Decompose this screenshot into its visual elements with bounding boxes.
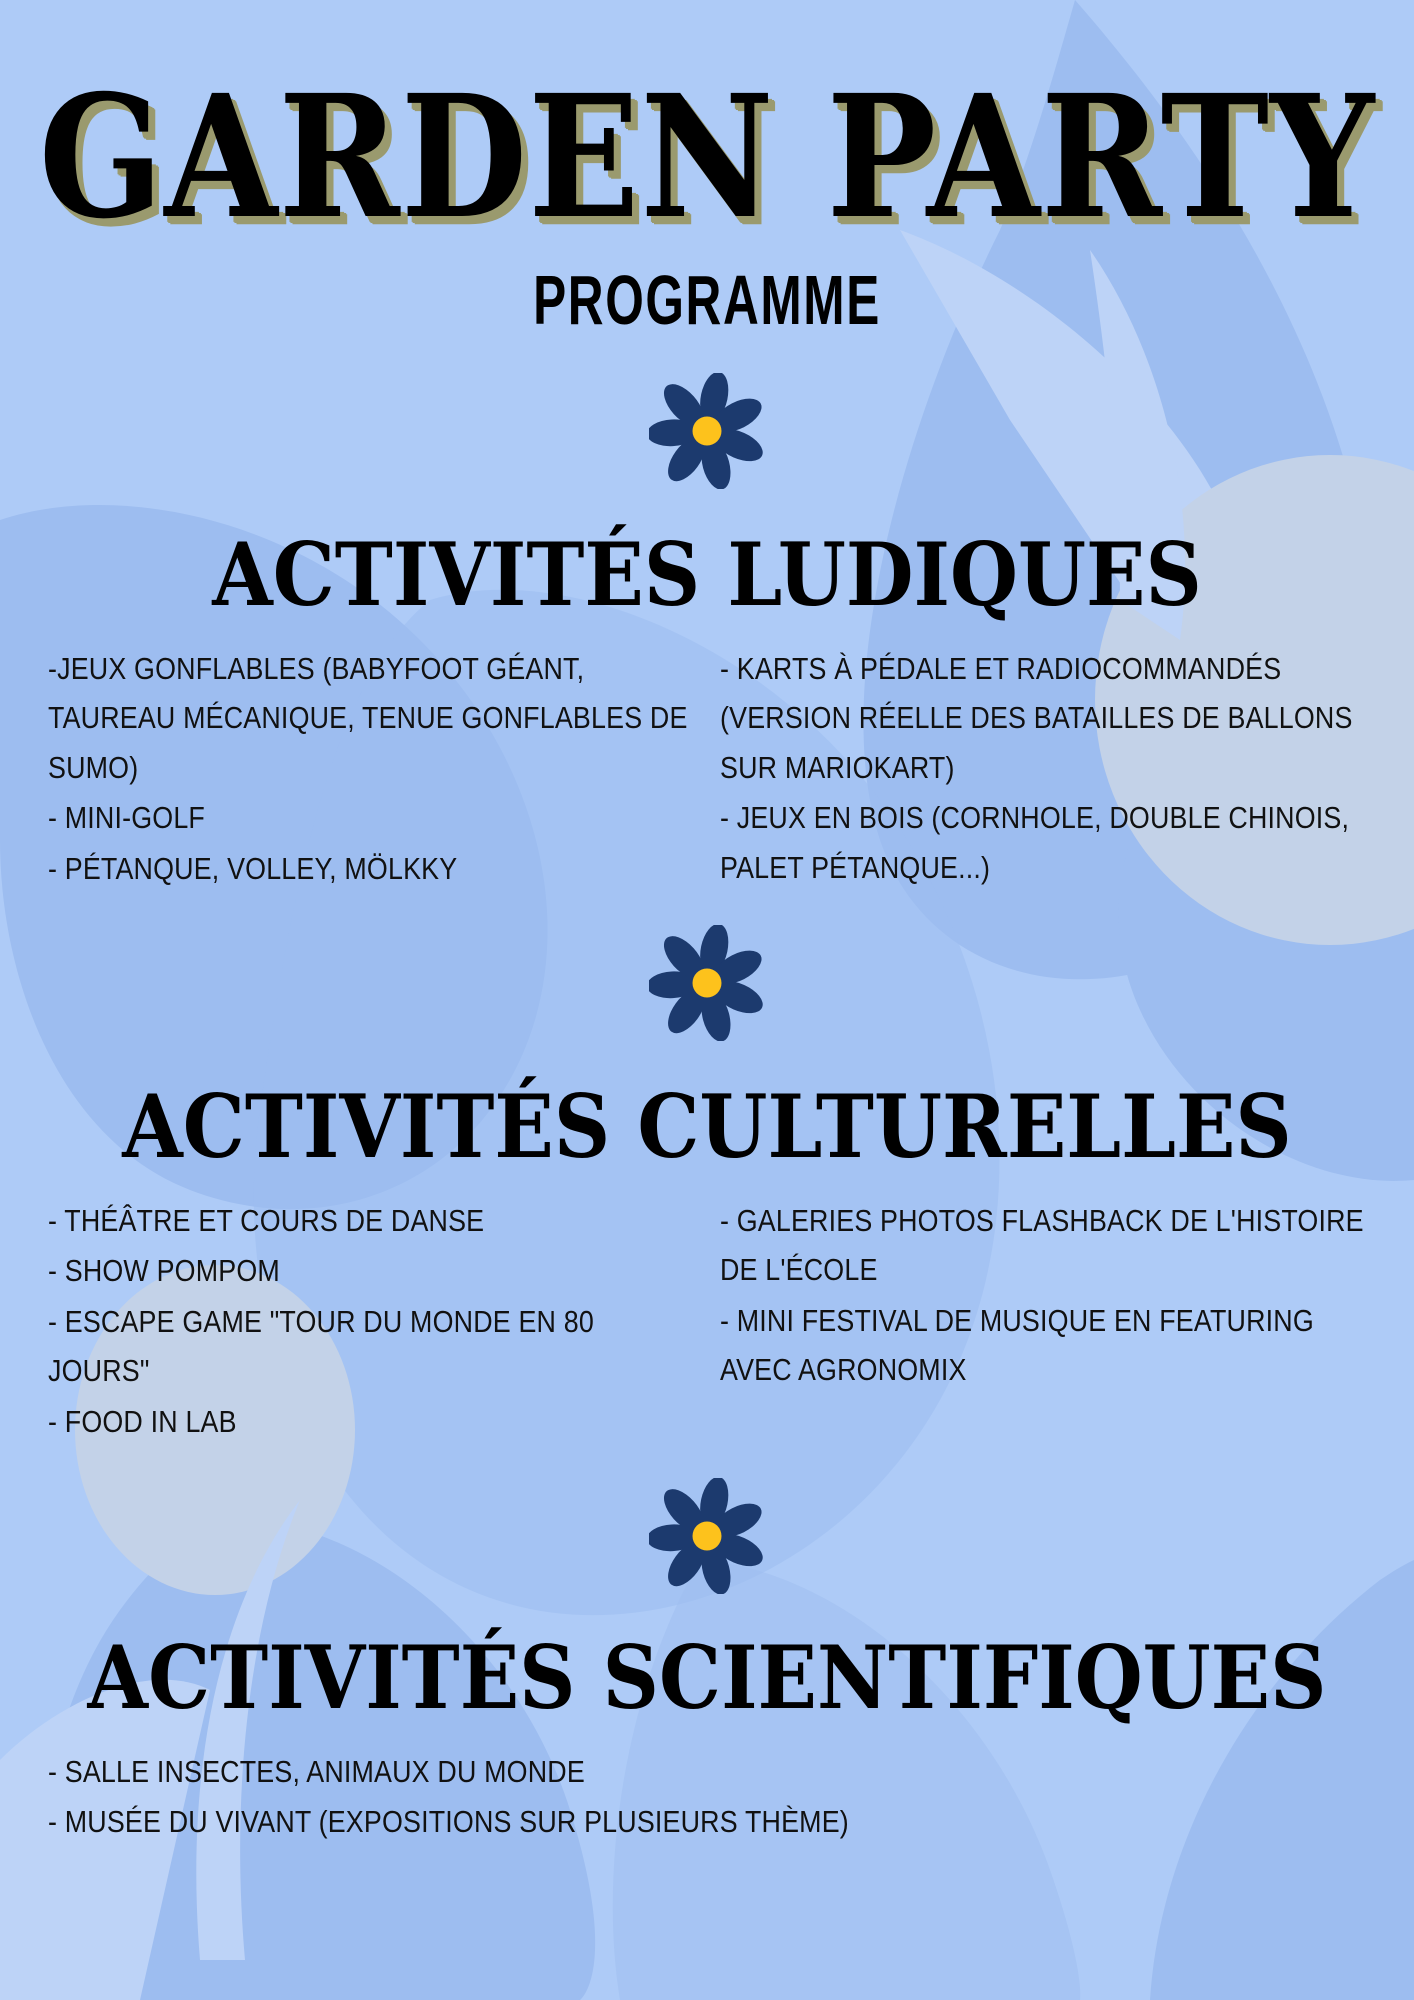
section-ludiques: ACTIVITÉS LUDIQUES -JEUX GONFLABLES (BAB… — [48, 537, 1366, 895]
list-item: - KARTS À PÉDALE ET RADIOCOMMANDÉS (VERS… — [720, 645, 1366, 793]
section-culturelles-left-column: - THÉÂTRE ET COURS DE DANSE - SHOW POMPO… — [48, 1197, 694, 1448]
flower-divider-2 — [48, 925, 1366, 1041]
list-item: - FOOD IN LAB — [48, 1398, 694, 1447]
section-culturelles: ACTIVITÉS CULTURELLES - THÉÂTRE ET COURS… — [48, 1089, 1366, 1448]
section-heading-culturelles: ACTIVITÉS CULTURELLES — [48, 1084, 1366, 1171]
flower-center — [693, 1522, 722, 1551]
flower-divider-3 — [48, 1478, 1366, 1594]
flower-center — [693, 969, 722, 998]
list-item: - JEUX EN BOIS (CORNHOLE, DOUBLE CHINOIS… — [720, 794, 1366, 893]
flower-icon — [649, 925, 765, 1041]
page-subtitle: PROGRAMME — [180, 198, 1234, 337]
section-ludiques-left-column: -JEUX GONFLABLES (BABYFOOT GÉANT, TAUREA… — [48, 645, 694, 895]
list-item: - MINI-GOLF — [48, 794, 694, 843]
list-item: - SALLE INSECTES, ANIMAUX DU MONDE — [48, 1748, 1366, 1797]
list-item: - THÉÂTRE ET COURS DE DANSE — [48, 1197, 694, 1246]
list-item: - SHOW POMPOM — [48, 1247, 694, 1296]
section-culturelles-right-column: - GALERIES PHOTOS FLASHBACK DE L'HISTOIR… — [720, 1197, 1366, 1397]
section-heading-ludiques: ACTIVITÉS LUDIQUES — [48, 532, 1366, 619]
flower-icon — [649, 373, 765, 489]
section-heading-scientifiques: ACTIVITÉS SCIENTIFIQUES — [48, 1635, 1366, 1722]
section-culturelles-columns: - THÉÂTRE ET COURS DE DANSE - SHOW POMPO… — [48, 1167, 1366, 1448]
section-ludiques-columns: -JEUX GONFLABLES (BABYFOOT GÉANT, TAUREA… — [48, 615, 1366, 895]
section-ludiques-right-column: - KARTS À PÉDALE ET RADIOCOMMANDÉS (VERS… — [720, 645, 1366, 894]
list-item: - GALERIES PHOTOS FLASHBACK DE L'HISTOIR… — [720, 1197, 1366, 1296]
list-item: -JEUX GONFLABLES (BABYFOOT GÉANT, TAUREA… — [48, 645, 694, 793]
list-item: - MUSÉE DU VIVANT (EXPOSITIONS SUR PLUSI… — [48, 1798, 1366, 1847]
flower-center — [693, 417, 722, 446]
list-item: - MINI FESTIVAL DE MUSIQUE EN FEATURING … — [720, 1297, 1366, 1396]
list-item: - ESCAPE GAME "TOUR DU MONDE EN 80 JOURS… — [48, 1298, 694, 1397]
list-item: - PÉTANQUE, VOLLEY, MÖLKKY — [48, 845, 694, 894]
flower-icon — [649, 1478, 765, 1594]
flower-divider-1 — [48, 373, 1366, 489]
poster-content: GARDEN PARTY PROGRAMME ACTIVITÉS LUDIQUE… — [0, 0, 1414, 2000]
section-scientifiques: ACTIVITÉS SCIENTIFIQUES - SALLE INSECTES… — [48, 1640, 1366, 1848]
section-scientifiques-list: - SALLE INSECTES, ANIMAUX DU MONDE - MUS… — [48, 1718, 1366, 1848]
